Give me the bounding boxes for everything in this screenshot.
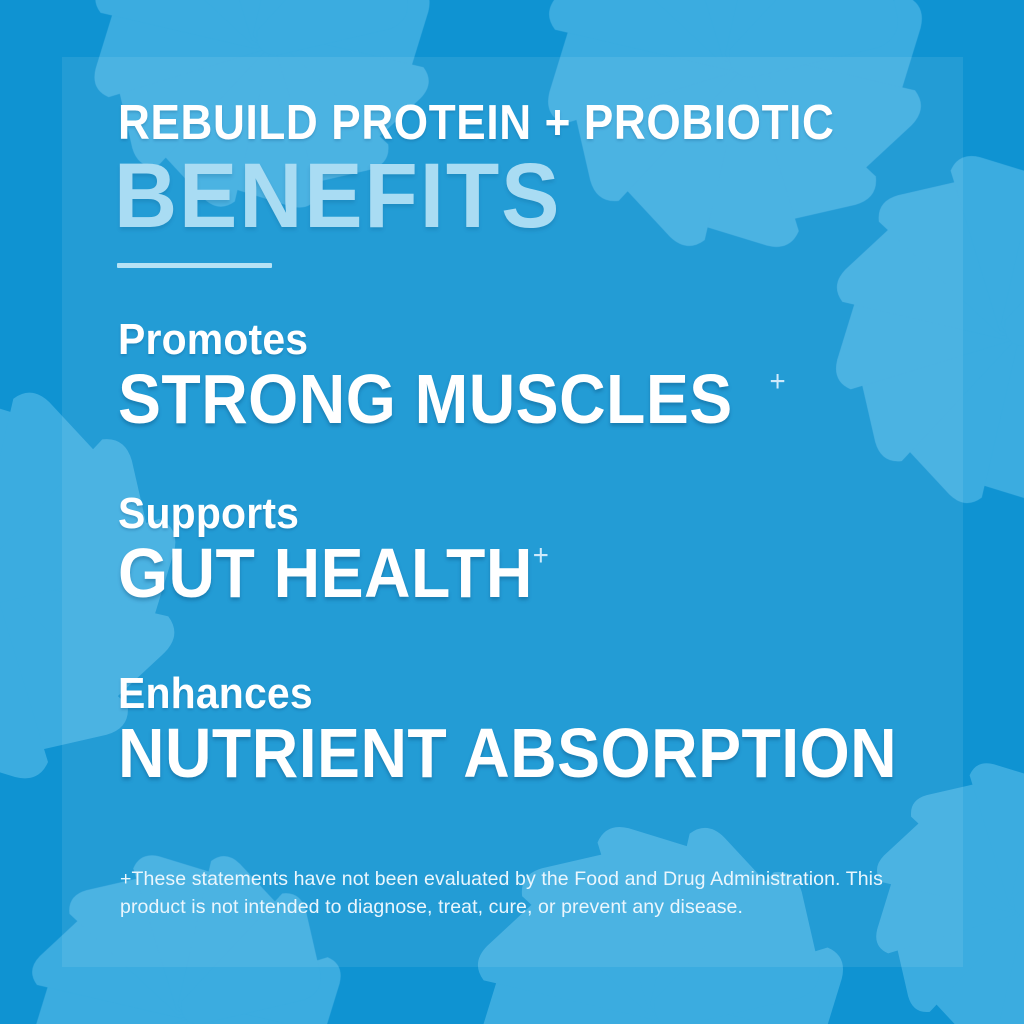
title-divider [117, 263, 272, 268]
benefit-item: Enhances NUTRIENT ABSORPTION [118, 672, 965, 790]
content-layer: REBUILD PROTEIN + PROBIOTIC BENEFITS Pro… [0, 0, 1024, 1024]
benefit-main-label: STRONG MUSCLES+ [118, 363, 786, 437]
benefit-main-text: STRONG MUSCLES [118, 360, 733, 438]
dagger-superscript-icon: + [533, 539, 549, 572]
fda-disclaimer: +These statements have not been evaluate… [120, 866, 910, 921]
benefit-main-label: GUT HEALTH+ [118, 537, 549, 611]
dagger-superscript-icon: + [769, 365, 785, 398]
page-title: BENEFITS [114, 150, 561, 242]
benefit-item: Promotes STRONG MUSCLES+ [118, 318, 844, 436]
benefit-main-text: GUT HEALTH [118, 534, 533, 612]
benefit-item: Supports GUT HEALTH+ [118, 492, 586, 610]
eyebrow-heading: REBUILD PROTEIN + PROBIOTIC [118, 99, 835, 148]
benefit-main-label: NUTRIENT ABSORPTION [118, 717, 897, 791]
benefit-lead-label: Promotes [118, 318, 793, 363]
benefit-main-text: NUTRIENT ABSORPTION [118, 714, 897, 792]
benefits-graphic: REBUILD PROTEIN + PROBIOTIC BENEFITS Pro… [0, 0, 1024, 1024]
benefit-lead-label: Supports [118, 492, 554, 537]
benefit-lead-label: Enhances [118, 672, 906, 717]
